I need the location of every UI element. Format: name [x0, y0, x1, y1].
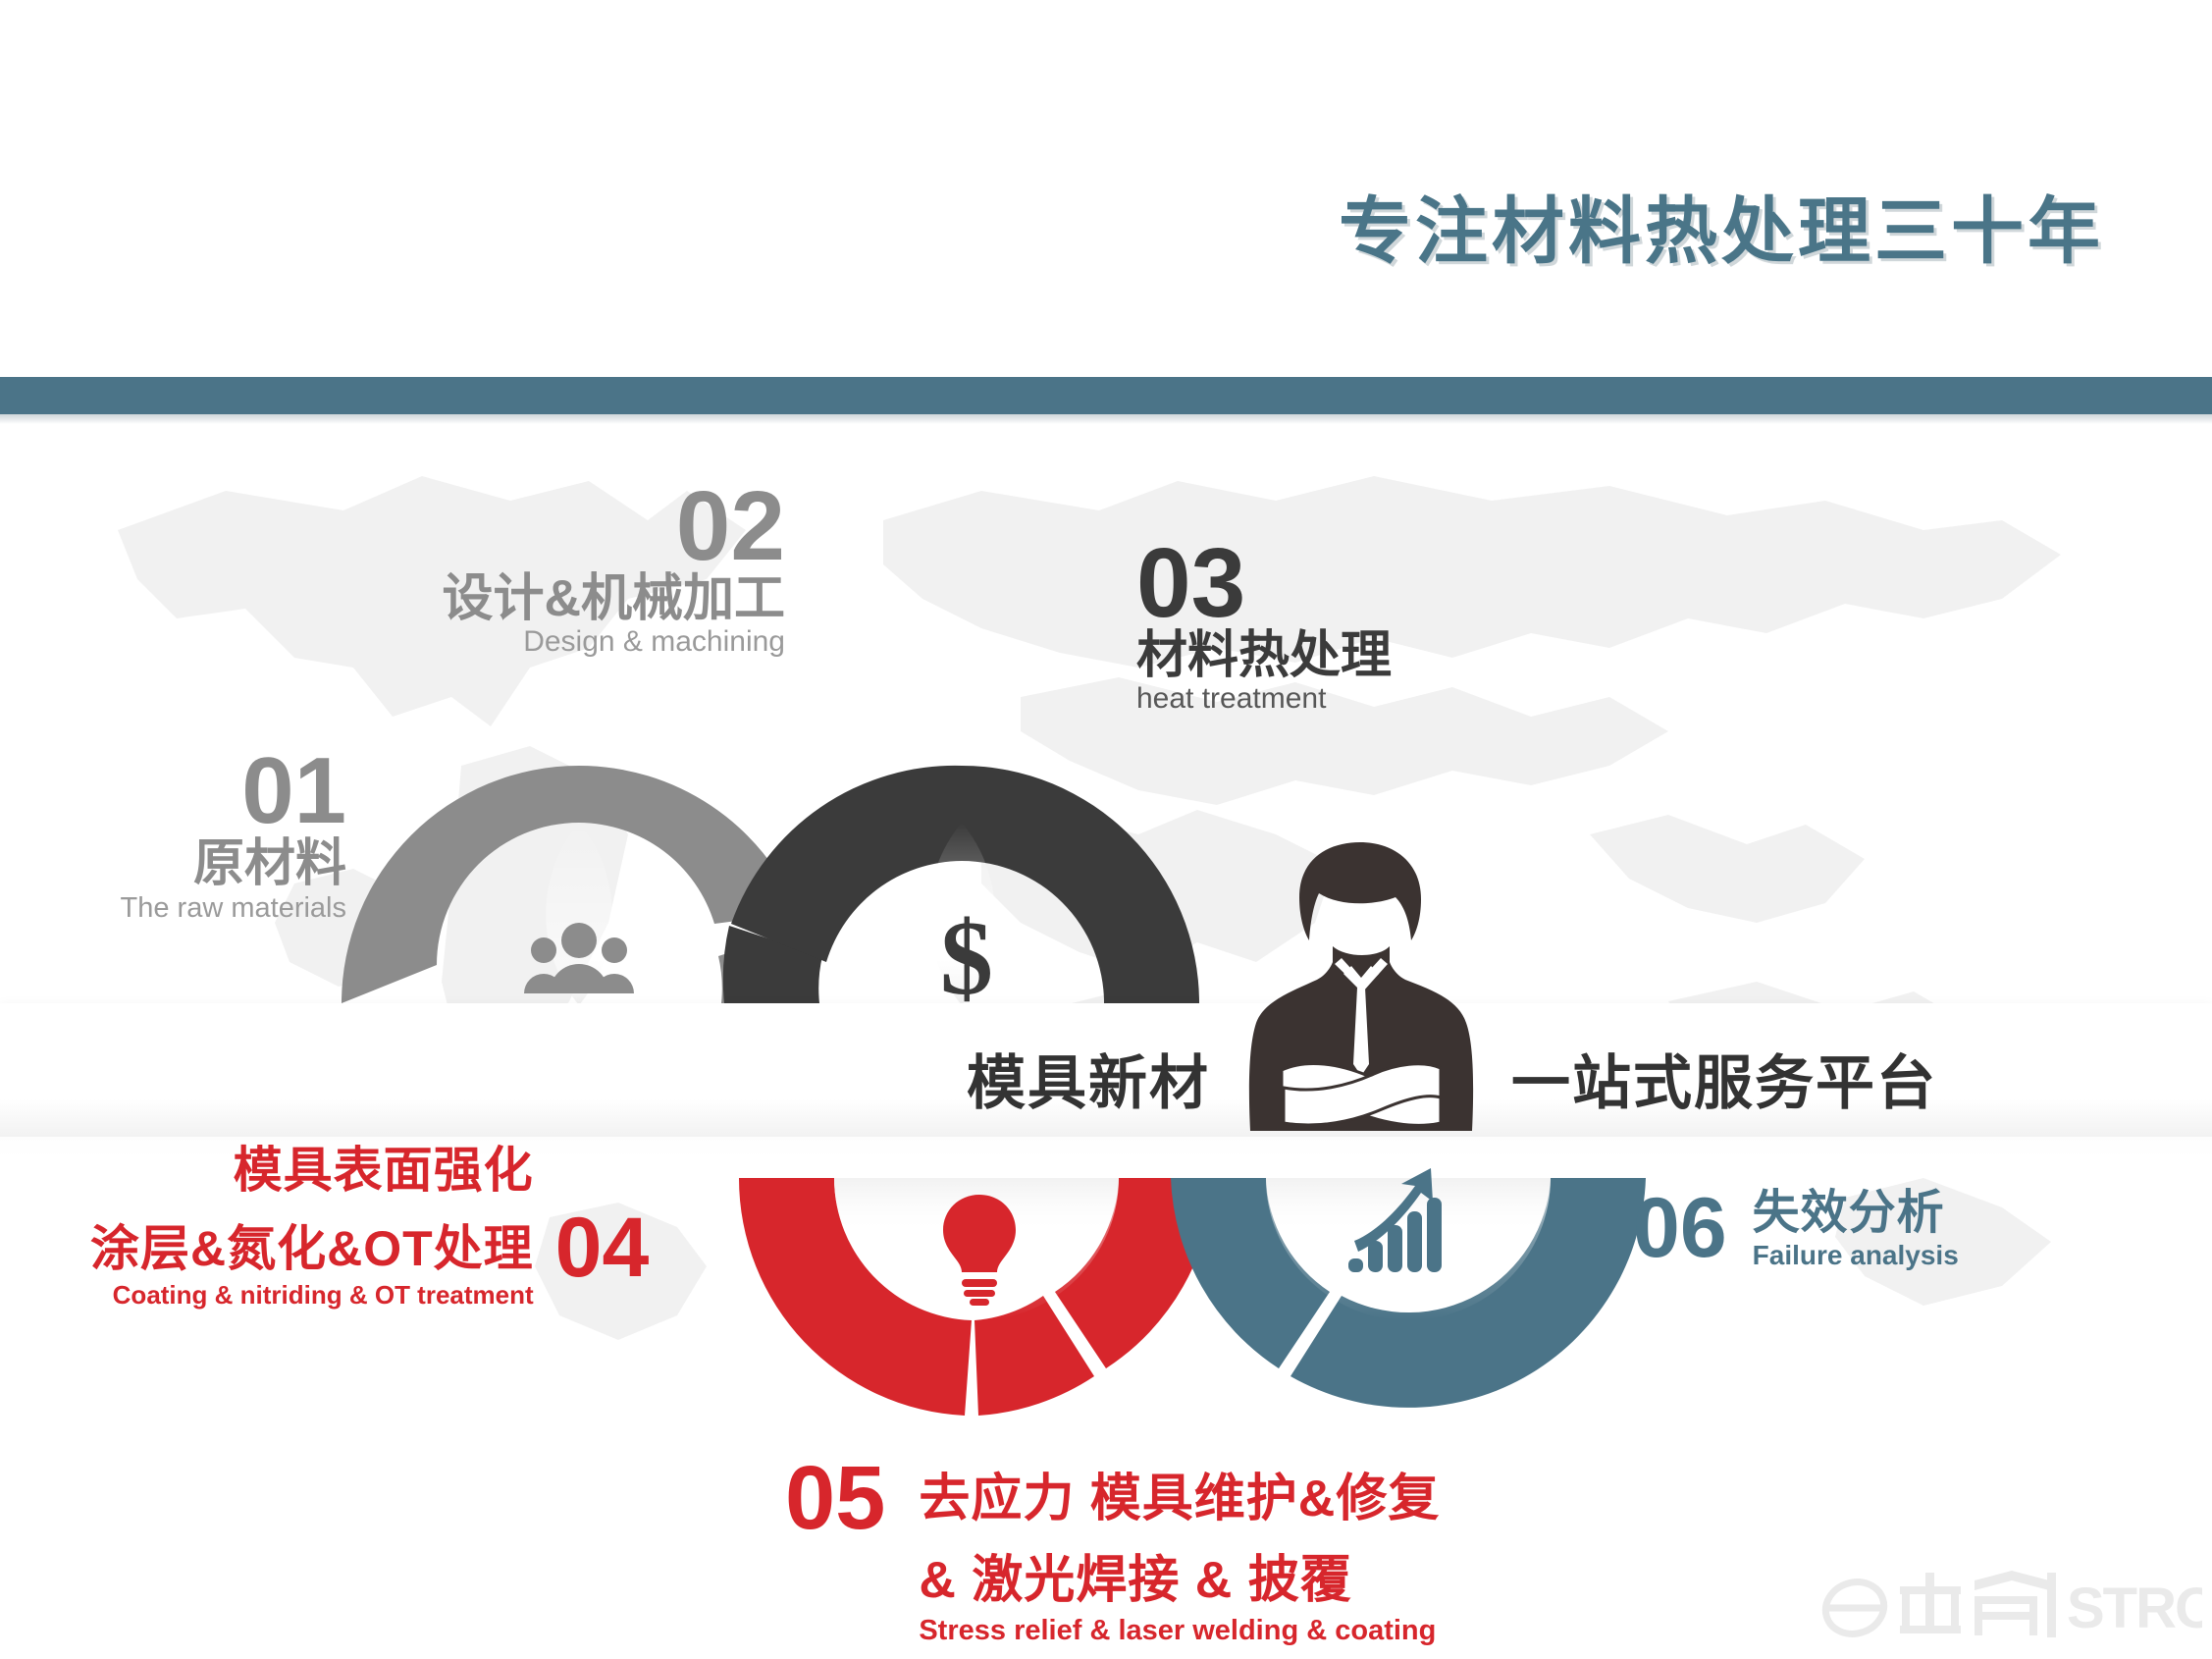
- lightbulb-icon: [937, 1193, 1022, 1307]
- svg-text:$: $: [940, 903, 993, 1011]
- step-title-cn-04-line2: 涂层&氮化&OT处理: [90, 1209, 534, 1280]
- step-number-04: 04: [555, 1209, 650, 1309]
- step-title-cn-03: 材料热处理: [1136, 630, 1392, 681]
- page-title: 专注材料热处理三十年: [1339, 173, 2104, 278]
- step-title-cn-02: 设计&机械加工: [393, 573, 785, 624]
- step-label-03[interactable]: 03 材料热处理 heat treatment: [1136, 538, 1392, 715]
- step-number-02: 02: [393, 481, 785, 571]
- step-title-en-03: heat treatment: [1136, 683, 1392, 715]
- step-number-01: 01: [106, 748, 346, 834]
- step-title-cn-04-line1: 模具表面强化: [90, 1131, 534, 1202]
- businessman-silhouette-icon: [1238, 836, 1484, 1151]
- step-title-cn-05-line1: 去应力 模具维护&修复: [919, 1457, 1440, 1530]
- header-bar-shadow: [0, 414, 2212, 424]
- step-title-en-01: The raw materials: [106, 893, 346, 923]
- svg-text:STRONG: STRONG: [2067, 1577, 2202, 1640]
- step-label-02[interactable]: 02 设计&机械加工 Design & machining: [393, 481, 785, 658]
- step-title-en-05: Stress relief & laser welding & coating: [919, 1616, 1440, 1645]
- slide-canvas: 专注材料热处理三十年: [0, 0, 2212, 1659]
- people-group-icon: [520, 923, 638, 1001]
- step-number-06: 06: [1633, 1190, 1727, 1267]
- step-title-en-06: Failure analysis: [1753, 1241, 1959, 1269]
- growth-chart-icon: [1344, 1164, 1452, 1282]
- center-label-right: 一站式服务平台: [1511, 1036, 1937, 1121]
- step-label-05[interactable]: 05 去应力 模具维护&修复 & 激光焊接 & 披覆 Stress relief…: [785, 1457, 1440, 1645]
- step-title-cn-05-line2: & 激光焊接 & 披覆: [919, 1538, 1440, 1612]
- step-label-01[interactable]: 01 原材料 The raw materials: [106, 748, 346, 924]
- step-number-05: 05: [785, 1457, 885, 1540]
- step-title-cn-01: 原材料: [106, 838, 346, 889]
- step-label-04[interactable]: 模具表面强化 涂层&氮化&OT处理 Coating & nitriding & …: [90, 1131, 649, 1309]
- header-accent-bar: [0, 377, 2212, 414]
- step-title-cn-06: 失效分析: [1753, 1190, 1959, 1237]
- company-logo-watermark: STRONG: [1819, 1557, 2202, 1651]
- dollar-sign-icon: $: [922, 903, 1011, 1011]
- step-label-06[interactable]: 06 失效分析 Failure analysis: [1633, 1190, 1959, 1269]
- step-title-en-02: Design & machining: [393, 626, 785, 658]
- center-label-left: 模具新材: [967, 1036, 1210, 1121]
- step-title-en-04: Coating & nitriding & OT treatment: [90, 1282, 534, 1309]
- step-number-03: 03: [1136, 538, 1392, 628]
